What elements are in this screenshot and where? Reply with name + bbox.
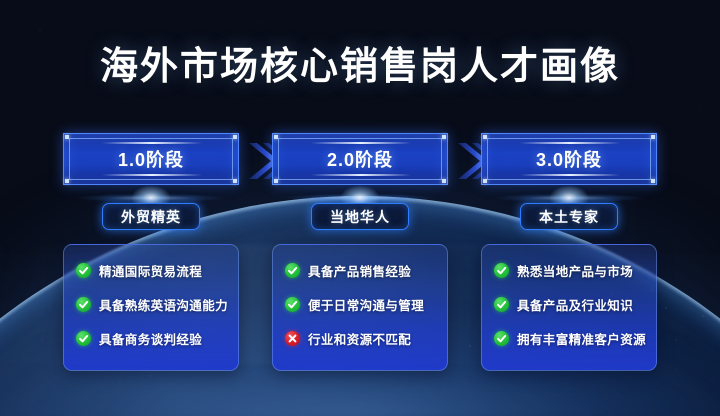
list-item: 具备商务谈判经验 xyxy=(64,326,238,350)
stage-column-1: 1.0阶段 外贸精英 精通国际贸易流程 具备熟练英语沟通能力 xyxy=(63,133,239,185)
list-item-label: 具备商务谈判经验 xyxy=(99,329,202,348)
list-item-label: 拥有丰富精准客户资源 xyxy=(517,329,646,348)
role-label: 本土专家 xyxy=(539,207,599,227)
list-item: 便于日常沟通与管理 xyxy=(273,292,447,316)
role-label: 当地华人 xyxy=(330,207,390,227)
stage-columns: 1.0阶段 外贸精英 精通国际贸易流程 具备熟练英语沟通能力 xyxy=(0,133,720,373)
list-item-label: 熟悉当地产品与市场 xyxy=(517,261,633,280)
list-item: 拥有丰富精准客户资源 xyxy=(482,326,656,350)
list-item: 精通国际贸易流程 xyxy=(64,258,238,282)
check-icon xyxy=(494,297,509,312)
check-icon xyxy=(494,331,509,346)
list-item-label: 具备产品及行业知识 xyxy=(517,295,633,314)
stage-label: 2.0阶段 xyxy=(273,134,447,184)
check-icon xyxy=(285,297,300,312)
check-icon xyxy=(76,331,91,346)
stage-label: 1.0阶段 xyxy=(64,134,238,184)
stage-column-2: 2.0阶段 当地华人 具备产品销售经验 便于日常沟通与管理 xyxy=(272,133,448,185)
role-pill-2[interactable]: 当地华人 xyxy=(311,203,409,230)
check-icon xyxy=(285,263,300,278)
slide-canvas: 海外市场核心销售岗人才画像 xyxy=(0,0,720,416)
list-item-label: 精通国际贸易流程 xyxy=(99,261,202,280)
role-label: 外贸精英 xyxy=(121,207,181,227)
stage-column-3: 3.0阶段 本土专家 熟悉当地产品与市场 具备产品及行业知识 xyxy=(481,133,657,185)
check-icon xyxy=(76,263,91,278)
list-item: 具备产品销售经验 xyxy=(273,258,447,282)
check-icon xyxy=(76,297,91,312)
role-pill-1[interactable]: 外贸精英 xyxy=(102,203,200,230)
bullet-card-1: 精通国际贸易流程 具备熟练英语沟通能力 具备商务谈判经验 xyxy=(63,244,239,371)
stage-label: 3.0阶段 xyxy=(482,134,656,184)
list-item: 熟悉当地产品与市场 xyxy=(482,258,656,282)
check-icon xyxy=(494,263,509,278)
bullet-card-2: 具备产品销售经验 便于日常沟通与管理 行业和资源不匹配 xyxy=(272,244,448,371)
list-item-label: 行业和资源不匹配 xyxy=(308,329,411,348)
list-item: 具备熟练英语沟通能力 xyxy=(64,292,238,316)
page-title: 海外市场核心销售岗人才画像 xyxy=(0,44,720,90)
stage-header-plate-1[interactable]: 1.0阶段 xyxy=(63,133,239,185)
list-item: 具备产品及行业知识 xyxy=(482,292,656,316)
bullet-card-3: 熟悉当地产品与市场 具备产品及行业知识 拥有丰富精准客户资源 xyxy=(481,244,657,371)
stage-header-plate-3[interactable]: 3.0阶段 xyxy=(481,133,657,185)
list-item-label: 便于日常沟通与管理 xyxy=(308,295,424,314)
list-item-label: 具备熟练英语沟通能力 xyxy=(99,295,228,314)
role-pill-3[interactable]: 本土专家 xyxy=(520,203,618,230)
stage-header-plate-2[interactable]: 2.0阶段 xyxy=(272,133,448,185)
list-item-label: 具备产品销售经验 xyxy=(308,261,411,280)
list-item: 行业和资源不匹配 xyxy=(273,326,447,350)
cross-icon xyxy=(285,331,300,346)
